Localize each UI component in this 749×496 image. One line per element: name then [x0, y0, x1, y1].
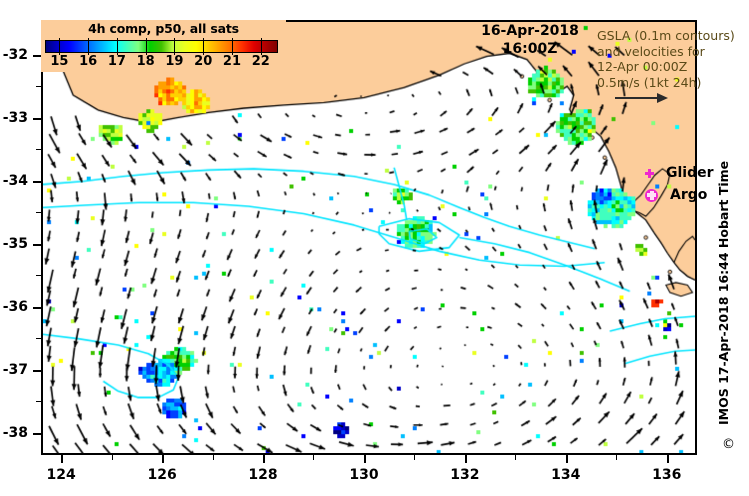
copyright-icon: © [722, 437, 735, 452]
y-axis-tick-minor [36, 338, 41, 339]
colorbar-tick-label: 15 [50, 54, 68, 69]
y-axis-tick-minor [36, 401, 41, 402]
x-axis-tick-major [162, 455, 164, 463]
y-axis-label: -32 [0, 47, 28, 63]
colorbar-tick [59, 38, 60, 55]
colorbar-tick-labels: 1516171819202122 [45, 54, 278, 70]
y-axis-tick-major [33, 307, 41, 309]
arrow-shaft [615, 97, 663, 99]
legend-item-glider-label: Glider [666, 165, 714, 181]
y-axis-tick-major [33, 244, 41, 246]
x-axis-tick-major [263, 455, 265, 463]
y-axis-label: -36 [0, 299, 28, 315]
y-axis-label: -34 [0, 173, 28, 189]
colorbar-tick [261, 38, 262, 55]
x-axis-label: 132 [450, 467, 479, 483]
colorbar: 4h comp, p50, all sats 1516171819202122 [41, 20, 286, 72]
x-axis-tick-major [566, 455, 568, 463]
y-axis-tick-major [33, 118, 41, 120]
x-axis-tick-major [667, 455, 669, 463]
right-arrow-icon [615, 93, 671, 103]
y-axis-tick-minor [36, 212, 41, 213]
x-axis-label: 126 [147, 467, 176, 483]
date-stamp-time: 16:00Z [470, 40, 590, 58]
colorbar-tick [88, 38, 89, 55]
colorbar-tick [174, 38, 175, 55]
y-axis-label: -33 [0, 110, 28, 126]
x-axis-label: 128 [248, 467, 277, 483]
sst-map-figure: 4h comp, p50, all sats 1516171819202122 … [0, 0, 749, 496]
colorbar-tick [117, 38, 118, 55]
gsla-line-4: 0.5m/s (1kt 24h) [597, 75, 735, 91]
x-axis-tick-minor [112, 455, 113, 460]
colorbar-tick-label: 20 [194, 54, 212, 69]
y-axis-label: -35 [0, 236, 28, 252]
glider-plus-marker [645, 169, 654, 178]
y-axis-tick-minor [36, 149, 41, 150]
legend-item-argo-label: Argo [670, 187, 707, 203]
x-axis-label: 136 [652, 467, 681, 483]
x-axis-tick-major [61, 455, 63, 463]
platform-legend: Glider Argo [645, 162, 714, 206]
x-axis-tick-minor [414, 455, 415, 460]
argo-circle-marker [645, 189, 658, 202]
gsla-annotation: GSLA (0.1m contours) and velocities for … [597, 28, 735, 103]
x-axis-tick-minor [616, 455, 617, 460]
legend-item-argo: Argo [645, 184, 714, 206]
gsla-line-1: GSLA (0.1m contours) [597, 28, 735, 44]
colorbar-tick [146, 38, 147, 55]
gsla-line-3: 12-Apr 00:00Z [597, 59, 735, 75]
y-axis-tick-major [33, 370, 41, 372]
y-axis-tick-major [33, 55, 41, 57]
y-axis-tick-major [33, 433, 41, 435]
colorbar-tick-label: 21 [223, 54, 241, 69]
y-axis-tick-minor [36, 275, 41, 276]
x-axis-label: 130 [349, 467, 378, 483]
x-axis-label: 124 [47, 467, 76, 483]
credit-text: IMOS 17-Apr-2018 16:44 Hobart Time [716, 195, 731, 425]
x-axis-tick-minor [213, 455, 214, 460]
arrow-head [657, 93, 668, 103]
colorbar-tick [232, 38, 233, 55]
colorbar-tick-label: 22 [252, 54, 270, 69]
x-axis-tick-minor [515, 455, 516, 460]
date-stamp-date: 16-Apr-2018 [470, 22, 590, 40]
colorbar-title: 4h comp, p50, all sats [41, 21, 286, 36]
gsla-line-2: and velocities for [597, 44, 735, 60]
legend-item-glider: Glider [645, 162, 714, 184]
x-axis-tick-minor [313, 455, 314, 460]
y-axis-tick-major [33, 181, 41, 183]
y-axis-label: -38 [0, 425, 28, 441]
x-axis-label: 134 [551, 467, 580, 483]
date-stamp: 16-Apr-2018 16:00Z [470, 22, 590, 58]
colorbar-tick-label: 17 [108, 54, 126, 69]
colorbar-tick-label: 19 [165, 54, 183, 69]
y-axis-label: -37 [0, 362, 28, 378]
y-axis-tick-minor [36, 86, 41, 87]
colorbar-tick-label: 16 [79, 54, 97, 69]
colorbar-tick [203, 38, 204, 55]
colorbar-ticks [45, 38, 278, 55]
colorbar-tick-label: 18 [137, 54, 155, 69]
x-axis-tick-major [364, 455, 366, 463]
x-axis-tick-major [465, 455, 467, 463]
